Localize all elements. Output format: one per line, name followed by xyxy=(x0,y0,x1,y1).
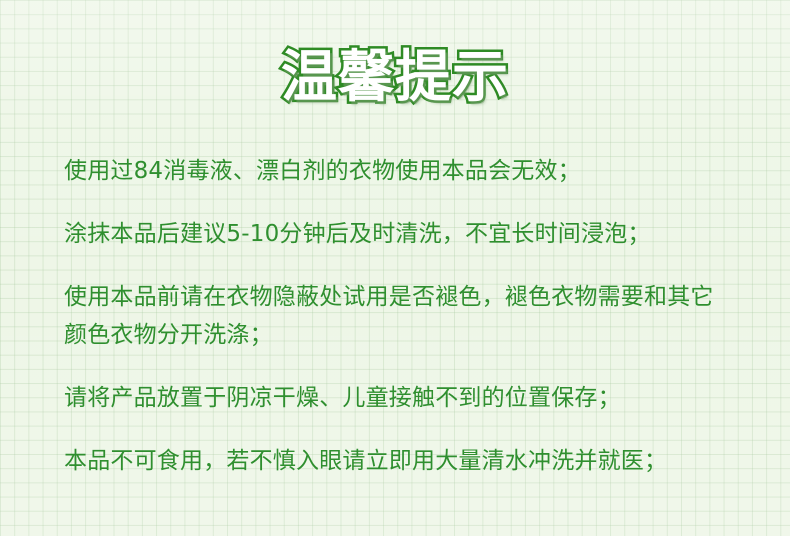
page-title: 温馨提示 xyxy=(281,44,509,112)
tip-item-bleach-ineffective: 使用过84消毒液、漂白剂的衣物使用本品会无效； xyxy=(64,152,754,190)
tip-item-storage: 请将产品放置于阴凉干燥、儿童接触不到的位置保存； xyxy=(64,379,754,417)
tips-list: 使用过84消毒液、漂白剂的衣物使用本品会无效； 涂抹本品后建议5-10分钟后及时… xyxy=(64,152,754,480)
tip-item-safety: 本品不可食用，若不慎入眼请立即用大量清水冲洗并就医； xyxy=(64,442,754,480)
tip-item-colorfast-test: 使用本品前请在衣物隐蔽处试用是否褪色，褪色衣物需要和其它颜色衣物分开洗涤； xyxy=(64,278,736,354)
poster-title-area: 温馨提示 xyxy=(0,44,790,112)
poster-content: 温馨提示 使用过84消毒液、漂白剂的衣物使用本品会无效； 涂抹本品后建议5-10… xyxy=(0,0,790,536)
tip-item-rinse-time: 涂抹本品后建议5-10分钟后及时清洗，不宜长时间浸泡； xyxy=(64,215,754,253)
tips-poster: 温馨提示 使用过84消毒液、漂白剂的衣物使用本品会无效； 涂抹本品后建议5-10… xyxy=(0,0,790,536)
